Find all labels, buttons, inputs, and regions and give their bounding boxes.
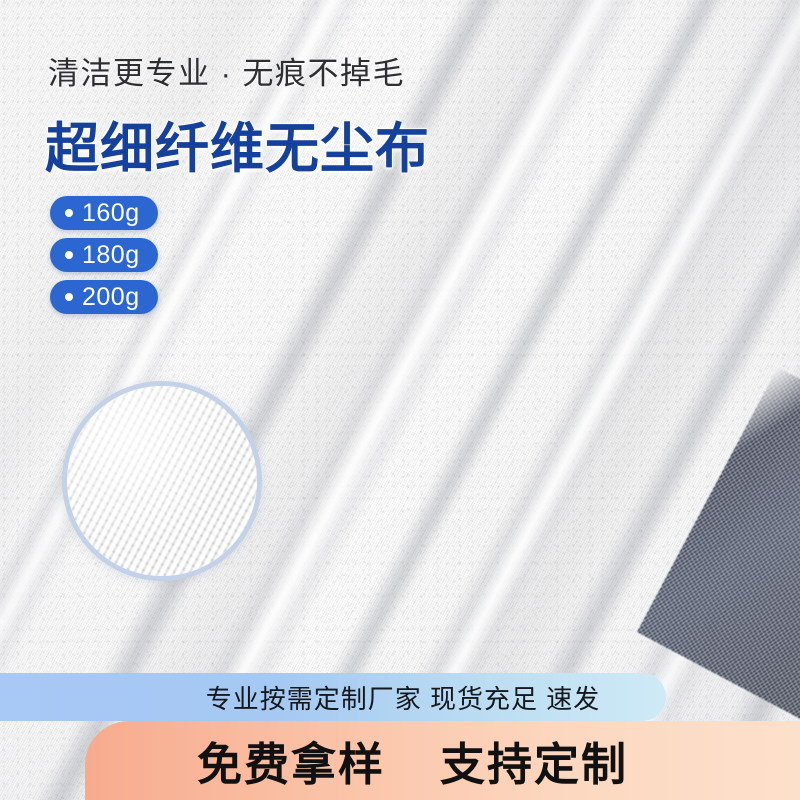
weight-badge-label: 180g	[82, 243, 140, 268]
page-title: 超细纤维无尘布	[45, 104, 430, 183]
cta-secondary-text: 支持定制	[440, 739, 628, 790]
fabric-zoom-gloss	[67, 386, 257, 576]
weight-badge-200g[interactable]: 200g	[50, 280, 158, 314]
bullet-dot-icon	[65, 251, 73, 259]
weight-badge-160g[interactable]: 160g	[50, 196, 158, 230]
bullet-dot-icon	[65, 209, 73, 217]
weight-badge-label: 160g	[82, 201, 140, 226]
bullet-dot-icon	[65, 293, 73, 301]
product-banner: 清洁更专业 · 无痕不掉毛 超细纤维无尘布 160g 180g 200g 专业按…	[0, 0, 800, 800]
weight-option-list: 160g 180g 200g	[50, 196, 158, 314]
cta-text-group: 免费拿样 支持定制	[197, 728, 628, 793]
banner-subtitle: 清洁更专业 · 无痕不掉毛	[48, 48, 405, 93]
tagline-text: 专业按需定制厂家 现货充足 速发	[46, 679, 600, 716]
tagline-bar: 专业按需定制厂家 现货充足 速发	[0, 673, 666, 721]
cta-banner[interactable]: 免费拿样 支持定制	[85, 721, 800, 800]
weight-badge-label: 200g	[82, 285, 140, 310]
cta-primary-text: 免费拿样	[197, 739, 385, 790]
fabric-zoom-circle	[62, 381, 262, 581]
weight-badge-180g[interactable]: 180g	[50, 238, 158, 272]
